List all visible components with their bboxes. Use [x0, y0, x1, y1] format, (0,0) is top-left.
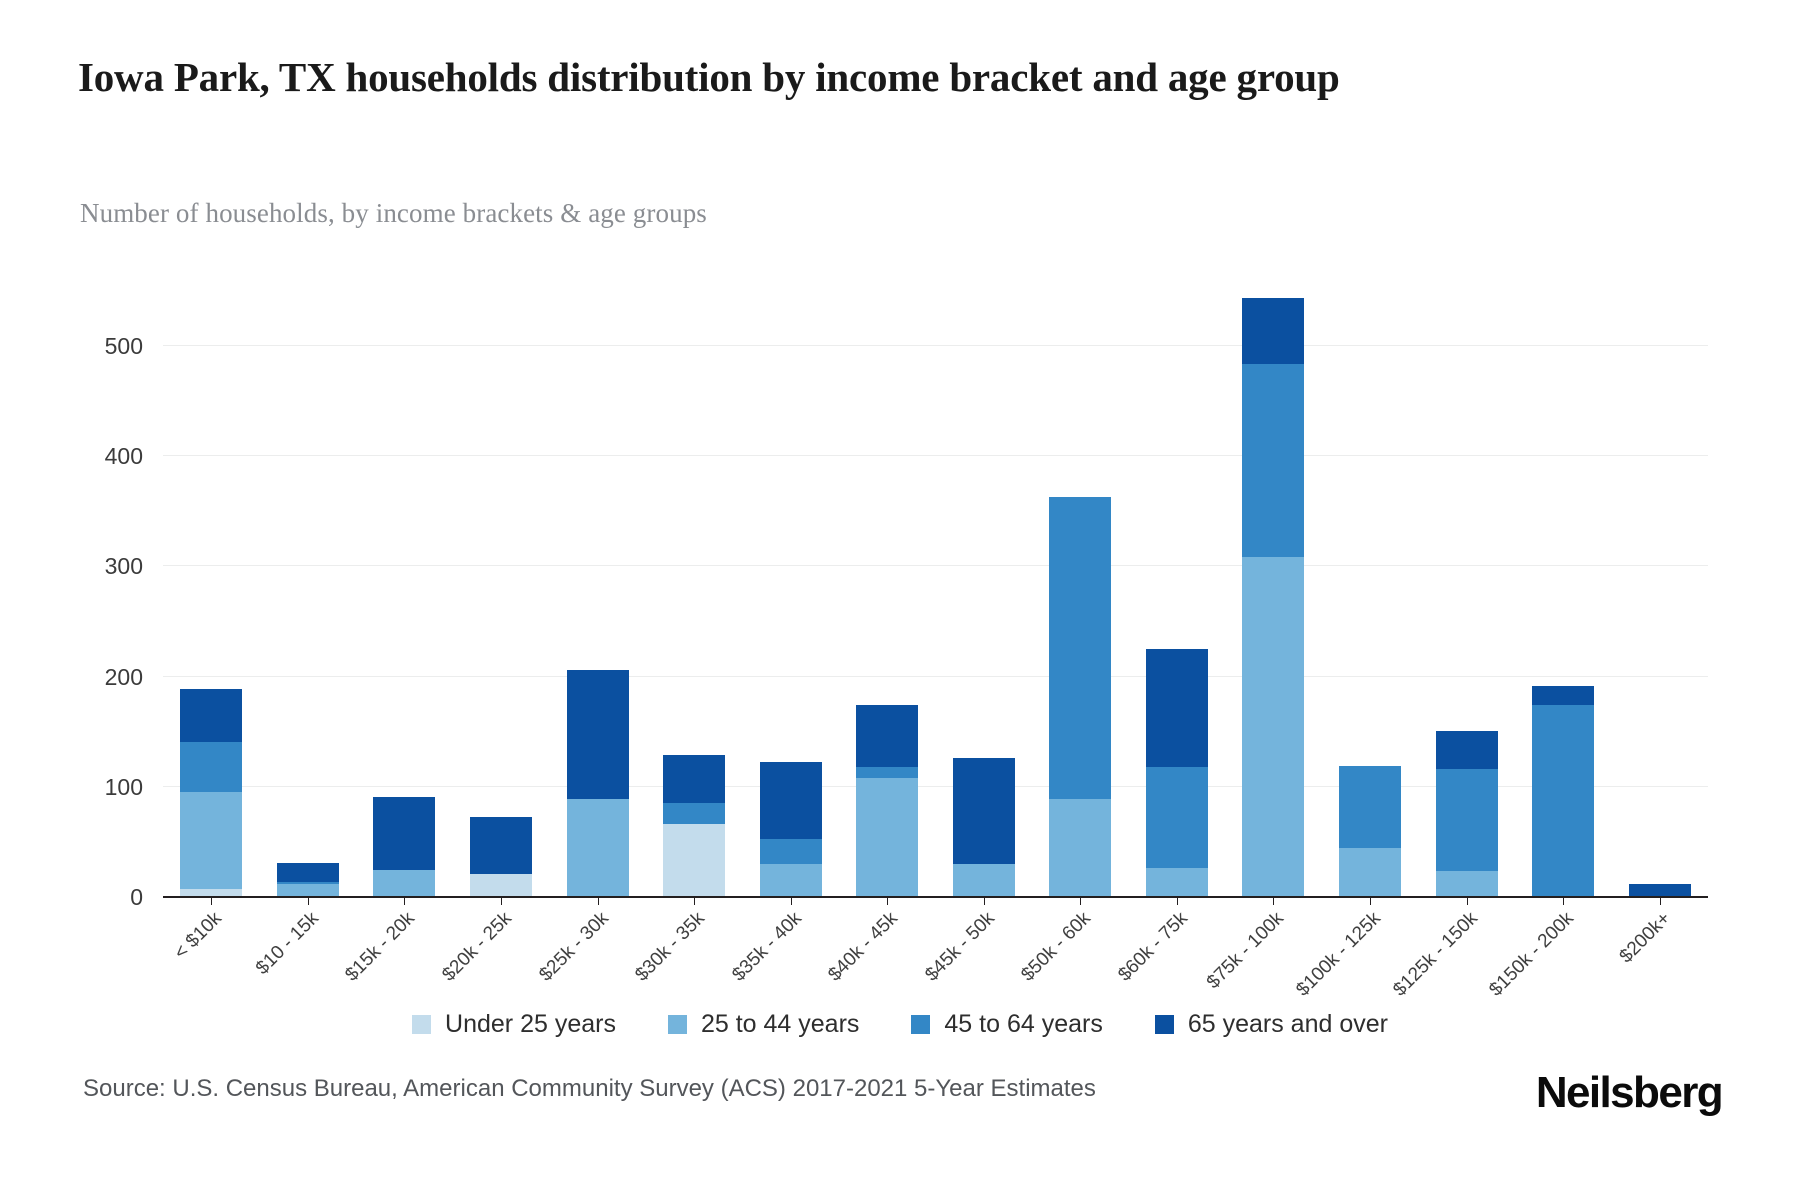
- bar-segment[interactable]: [663, 824, 725, 896]
- legend-item[interactable]: 65 years and over: [1155, 1010, 1388, 1039]
- page-subtitle: Number of households, by income brackets…: [80, 198, 707, 229]
- brand-logo: Neilsberg: [1536, 1068, 1722, 1118]
- legend-swatch-icon: [911, 1015, 930, 1034]
- x-axis-tick-label: $25k - 30k: [535, 908, 613, 986]
- bar-group: [163, 290, 1708, 896]
- legend-swatch-icon: [668, 1015, 687, 1034]
- x-axis-tick-label: $10 - 15k: [252, 908, 324, 980]
- x-axis-tick-label: $40k - 45k: [824, 908, 902, 986]
- bar-segment[interactable]: [1242, 298, 1304, 364]
- legend-item[interactable]: 45 to 64 years: [911, 1010, 1102, 1039]
- y-axis-tick-label: 500: [3, 333, 143, 360]
- bar-segment[interactable]: [180, 792, 242, 889]
- bar-segment[interactable]: [1049, 799, 1111, 896]
- bar-segment[interactable]: [953, 758, 1015, 864]
- stacked-bar[interactable]: [760, 762, 822, 896]
- legend-swatch-icon: [1155, 1015, 1174, 1034]
- bar-segment[interactable]: [1339, 766, 1401, 848]
- x-axis-tick-label: $150k - 200k: [1485, 908, 1578, 1001]
- stacked-bar[interactable]: [1436, 731, 1498, 896]
- plot-area: 0100200300400500 < $10k$10 - 15k$15k - 2…: [163, 290, 1708, 896]
- bar-segment[interactable]: [373, 870, 435, 896]
- bar-segment[interactable]: [760, 839, 822, 864]
- bar-slot[interactable]: [453, 290, 550, 896]
- bar-segment[interactable]: [1339, 848, 1401, 896]
- y-axis-tick-label: 300: [3, 553, 143, 580]
- x-axis-tick-label: $100k - 125k: [1292, 908, 1385, 1001]
- bar-slot[interactable]: [1418, 290, 1515, 896]
- bar-segment[interactable]: [1532, 705, 1594, 896]
- x-axis-tick-label: $20k - 25k: [438, 908, 516, 986]
- bar-slot[interactable]: [356, 290, 453, 896]
- stacked-bar[interactable]: [1629, 884, 1691, 896]
- bar-segment[interactable]: [856, 778, 918, 896]
- stacked-bar[interactable]: [277, 863, 339, 896]
- bar-segment[interactable]: [1146, 767, 1208, 868]
- bar-slot[interactable]: [936, 290, 1033, 896]
- legend-label: Under 25 years: [445, 1010, 616, 1039]
- x-axis-tick-label: $15k - 20k: [342, 908, 420, 986]
- bar-segment[interactable]: [760, 762, 822, 839]
- bar-segment[interactable]: [470, 817, 532, 874]
- stacked-bar[interactable]: [1532, 686, 1594, 896]
- stacked-bar[interactable]: [663, 755, 725, 896]
- bar-slot[interactable]: [742, 290, 839, 896]
- bar-segment[interactable]: [470, 874, 532, 896]
- bar-segment[interactable]: [856, 705, 918, 767]
- bar-slot[interactable]: [1129, 290, 1226, 896]
- x-axis-tick-label: < $10k: [171, 908, 227, 964]
- stacked-bar[interactable]: [1242, 298, 1304, 896]
- bar-segment[interactable]: [277, 884, 339, 896]
- bar-segment[interactable]: [953, 864, 1015, 896]
- bar-segment[interactable]: [1436, 731, 1498, 770]
- stacked-bar[interactable]: [373, 797, 435, 896]
- stacked-bar[interactable]: [856, 705, 918, 896]
- bar-segment[interactable]: [1242, 364, 1304, 557]
- y-axis-tick-label: 0: [3, 884, 143, 911]
- bar-segment[interactable]: [567, 799, 629, 896]
- y-axis-tick-label: 100: [3, 774, 143, 801]
- bar-segment[interactable]: [663, 755, 725, 803]
- bar-segment[interactable]: [1049, 497, 1111, 799]
- bar-slot[interactable]: [260, 290, 357, 896]
- bar-slot[interactable]: [839, 290, 936, 896]
- page-title: Iowa Park, TX households distribution by…: [78, 52, 1638, 102]
- bar-slot[interactable]: [1225, 290, 1322, 896]
- bar-segment[interactable]: [180, 689, 242, 742]
- y-axis-tick-label: 200: [3, 664, 143, 691]
- stacked-bar[interactable]: [567, 670, 629, 896]
- bar-slot[interactable]: [646, 290, 743, 896]
- bar-segment[interactable]: [373, 797, 435, 870]
- bar-slot[interactable]: [549, 290, 646, 896]
- bar-slot[interactable]: [1322, 290, 1419, 896]
- stacked-bar[interactable]: [1049, 497, 1111, 896]
- bar-segment[interactable]: [180, 742, 242, 793]
- stacked-bar[interactable]: [953, 758, 1015, 896]
- bar-slot[interactable]: [1611, 290, 1708, 896]
- x-axis-tick-label: $45k - 50k: [921, 908, 999, 986]
- stacked-bar[interactable]: [180, 689, 242, 896]
- x-axis-tick-label: $60k - 75k: [1114, 908, 1192, 986]
- legend-label: 25 to 44 years: [701, 1010, 859, 1039]
- bar-segment[interactable]: [856, 767, 918, 778]
- legend-label: 45 to 64 years: [944, 1010, 1102, 1039]
- bar-segment[interactable]: [567, 670, 629, 799]
- stacked-bar[interactable]: [470, 817, 532, 896]
- bar-segment[interactable]: [1146, 649, 1208, 767]
- bar-segment[interactable]: [1629, 884, 1691, 896]
- bar-segment[interactable]: [1436, 871, 1498, 896]
- bar-segment[interactable]: [1242, 557, 1304, 896]
- legend-item[interactable]: Under 25 years: [412, 1010, 616, 1039]
- chart-page: Iowa Park, TX households distribution by…: [0, 0, 1800, 1200]
- x-axis-tick-label: $50k - 60k: [1018, 908, 1096, 986]
- bar-slot[interactable]: [163, 290, 260, 896]
- y-axis-tick-label: 400: [3, 443, 143, 470]
- source-note: Source: U.S. Census Bureau, American Com…: [83, 1075, 1096, 1103]
- bar-segment[interactable]: [760, 864, 822, 896]
- x-axis-tick-label: $75k - 100k: [1203, 908, 1289, 994]
- legend-item[interactable]: 25 to 44 years: [668, 1010, 859, 1039]
- x-axis-tick-label: $30k - 35k: [631, 908, 709, 986]
- bar-segment[interactable]: [663, 803, 725, 824]
- legend-swatch-icon: [412, 1015, 431, 1034]
- bar-segment[interactable]: [1532, 686, 1594, 706]
- bar-segment[interactable]: [1436, 769, 1498, 870]
- x-axis-line: [163, 896, 1708, 898]
- x-axis-tick-label: $35k - 40k: [728, 908, 806, 986]
- stacked-bar[interactable]: [1146, 649, 1208, 896]
- legend-label: 65 years and over: [1188, 1010, 1388, 1039]
- bar-segment[interactable]: [1146, 868, 1208, 896]
- bar-segment[interactable]: [277, 863, 339, 882]
- bar-slot[interactable]: [1515, 290, 1612, 896]
- chart-legend: Under 25 years25 to 44 years45 to 64 yea…: [0, 1010, 1800, 1039]
- bar-segment[interactable]: [180, 889, 242, 896]
- bar-slot[interactable]: [1032, 290, 1129, 896]
- stacked-bar[interactable]: [1339, 766, 1401, 896]
- x-axis-tick-label: $125k - 150k: [1389, 908, 1482, 1001]
- x-axis-tick-label: $200k+: [1615, 908, 1675, 968]
